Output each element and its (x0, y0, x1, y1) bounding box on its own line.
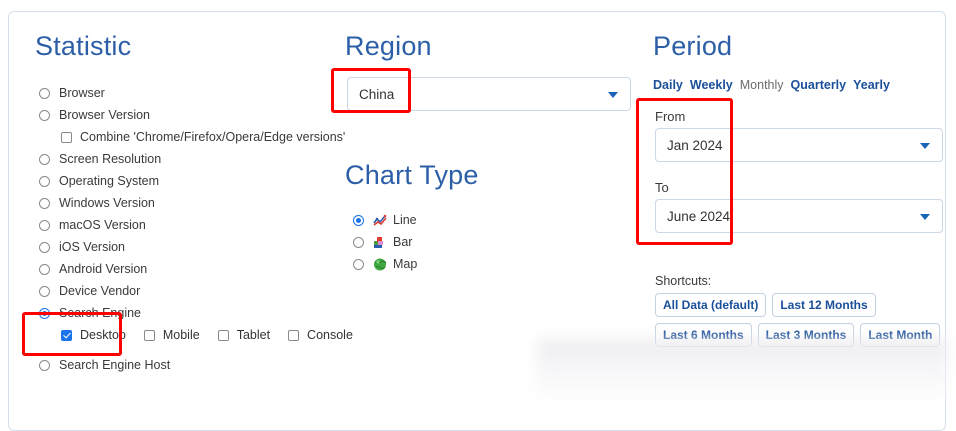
checkbox-unchecked-icon[interactable] (288, 330, 299, 341)
period-granularity-links: DailyWeeklyMonthlyQuarterlyYearly (653, 77, 897, 93)
to-label: To (655, 180, 943, 195)
chart-type-option-bar[interactable]: Bar (353, 231, 613, 253)
option-label: Combine 'Chrome/Firefox/Opera/Edge versi… (80, 130, 345, 144)
chart-type-label: Bar (393, 235, 412, 249)
option-label: macOS Version (59, 218, 146, 232)
checkbox-unchecked-icon[interactable] (61, 132, 72, 143)
spacer (39, 346, 339, 354)
option-label: Android Version (59, 262, 147, 276)
period-from-group: From Jan 2024 (655, 109, 943, 162)
statistic-option-operating-system[interactable]: Operating System (39, 170, 339, 192)
statistic-option-windows-version[interactable]: Windows Version (39, 192, 339, 214)
statistic-option-macos-version[interactable]: macOS Version (39, 214, 339, 236)
chart-type-options-list: LineBarMap (353, 209, 613, 275)
radio-unchecked-icon[interactable] (39, 88, 50, 99)
shortcuts-label: Shortcuts: (655, 274, 946, 288)
checkbox-unchecked-icon[interactable] (144, 330, 155, 341)
radio-unchecked-icon[interactable] (353, 259, 364, 270)
period-granularity-yearly[interactable]: Yearly (853, 78, 890, 92)
device-label: Tablet (237, 328, 270, 342)
radio-unchecked-icon[interactable] (39, 242, 50, 253)
device-filter-row: DesktopMobileTabletConsole (39, 324, 339, 346)
chevron-down-icon (608, 92, 618, 98)
period-to-group: To June 2024 (655, 180, 943, 233)
statistic-option-android-version[interactable]: Android Version (39, 258, 339, 280)
device-label: Desktop (80, 328, 126, 342)
from-select[interactable]: Jan 2024 (655, 128, 943, 162)
chart-type-heading: Chart Type (345, 159, 479, 191)
radio-unchecked-icon[interactable] (39, 154, 50, 165)
statistic-option-search-engine[interactable]: Search Engine (39, 302, 339, 324)
chevron-down-icon (920, 214, 930, 220)
device-checkbox-console[interactable]: Console (288, 328, 353, 342)
chart-type-label: Map (393, 257, 417, 271)
option-label: Windows Version (59, 196, 155, 210)
from-label: From (655, 109, 943, 124)
radio-unchecked-icon[interactable] (39, 220, 50, 231)
shortcuts-group: Shortcuts: All Data (default)Last 12 Mon… (655, 274, 946, 347)
radio-unchecked-icon[interactable] (353, 237, 364, 248)
statistic-options-list: BrowserBrowser VersionCombine 'Chrome/Fi… (39, 82, 339, 376)
option-label: Screen Resolution (59, 152, 161, 166)
option-label: Operating System (59, 174, 159, 188)
radio-unchecked-icon[interactable] (39, 264, 50, 275)
device-label: Mobile (163, 328, 200, 342)
globe-map-icon (373, 258, 387, 271)
chart-type-option-map[interactable]: Map (353, 253, 613, 275)
radio-checked-icon[interactable] (39, 308, 50, 319)
device-checkbox-tablet[interactable]: Tablet (218, 328, 270, 342)
shortcut-button-all-data-default[interactable]: All Data (default) (655, 293, 766, 317)
checkbox-checked-icon[interactable] (61, 330, 72, 341)
checkbox-unchecked-icon[interactable] (218, 330, 229, 341)
radio-unchecked-icon[interactable] (39, 360, 50, 371)
option-label: Search Engine Host (59, 358, 170, 372)
period-granularity-monthly: Monthly (740, 78, 784, 92)
option-label: Search Engine (59, 306, 141, 320)
period-granularity-weekly[interactable]: Weekly (690, 78, 733, 92)
statistic-option-ios-version[interactable]: iOS Version (39, 236, 339, 258)
radio-unchecked-icon[interactable] (39, 176, 50, 187)
statistic-heading: Statistic (35, 30, 131, 62)
region-select[interactable]: China (347, 77, 631, 111)
radio-unchecked-icon[interactable] (39, 198, 50, 209)
statistic-option-browser[interactable]: Browser (39, 82, 339, 104)
region-selected-value: China (359, 87, 394, 102)
option-label: iOS Version (59, 240, 125, 254)
period-heading: Period (653, 30, 732, 62)
shortcut-button-last-month[interactable]: Last Month (860, 323, 940, 347)
from-value: Jan 2024 (667, 138, 723, 153)
chevron-down-icon (920, 143, 930, 149)
device-checkbox-desktop[interactable]: Desktop (61, 328, 126, 342)
region-heading: Region (345, 30, 432, 62)
option-label: Device Vendor (59, 284, 140, 298)
filters-panel: Statistic BrowserBrowser VersionCombine … (8, 11, 946, 431)
statistic-option-combine-chrome-firefox-opera-edge-versions[interactable]: Combine 'Chrome/Firefox/Opera/Edge versi… (39, 126, 339, 148)
period-granularity-quarterly[interactable]: Quarterly (791, 78, 847, 92)
line-chart-icon (373, 214, 387, 227)
option-label: Browser Version (59, 108, 150, 122)
shortcut-button-last-3-months[interactable]: Last 3 Months (758, 323, 855, 347)
statistic-option-browser-version[interactable]: Browser Version (39, 104, 339, 126)
option-label: Browser (59, 86, 105, 100)
device-label: Console (307, 328, 353, 342)
to-value: June 2024 (667, 209, 730, 224)
statistic-option-device-vendor[interactable]: Device Vendor (39, 280, 339, 302)
radio-checked-icon[interactable] (353, 215, 364, 226)
shortcut-button-last-12-months[interactable]: Last 12 Months (772, 293, 875, 317)
statistic-option-screen-resolution[interactable]: Screen Resolution (39, 148, 339, 170)
bar-chart-icon (373, 236, 387, 249)
chart-type-label: Line (393, 213, 417, 227)
shortcut-button-last-6-months[interactable]: Last 6 Months (655, 323, 752, 347)
radio-unchecked-icon[interactable] (39, 286, 50, 297)
to-select[interactable]: June 2024 (655, 199, 943, 233)
chart-type-option-line[interactable]: Line (353, 209, 613, 231)
radio-unchecked-icon[interactable] (39, 110, 50, 121)
period-granularity-daily[interactable]: Daily (653, 78, 683, 92)
shortcut-buttons: All Data (default)Last 12 MonthsLast 6 M… (655, 293, 946, 347)
statistic-option-search-engine-host[interactable]: Search Engine Host (39, 354, 339, 376)
device-checkbox-mobile[interactable]: Mobile (144, 328, 200, 342)
